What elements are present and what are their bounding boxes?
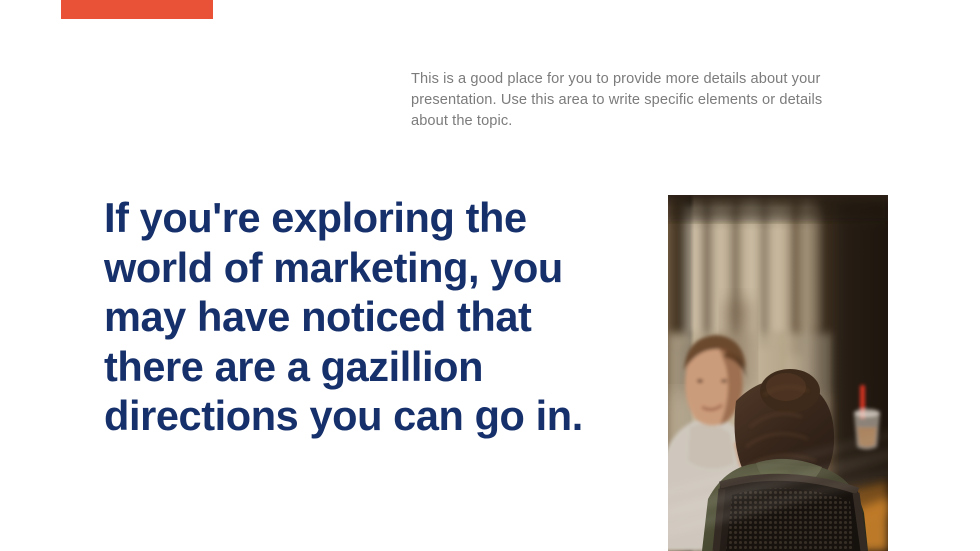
intro-paragraph: This is a good place for you to provide …	[411, 69, 854, 132]
orange-accent-bar	[61, 0, 213, 19]
headline-text: If you're exploring the world of marketi…	[104, 193, 624, 441]
slide-canvas: This is a good place for you to provide …	[0, 0, 980, 551]
cafe-photo-image	[668, 195, 888, 551]
cafe-photo	[668, 195, 888, 551]
